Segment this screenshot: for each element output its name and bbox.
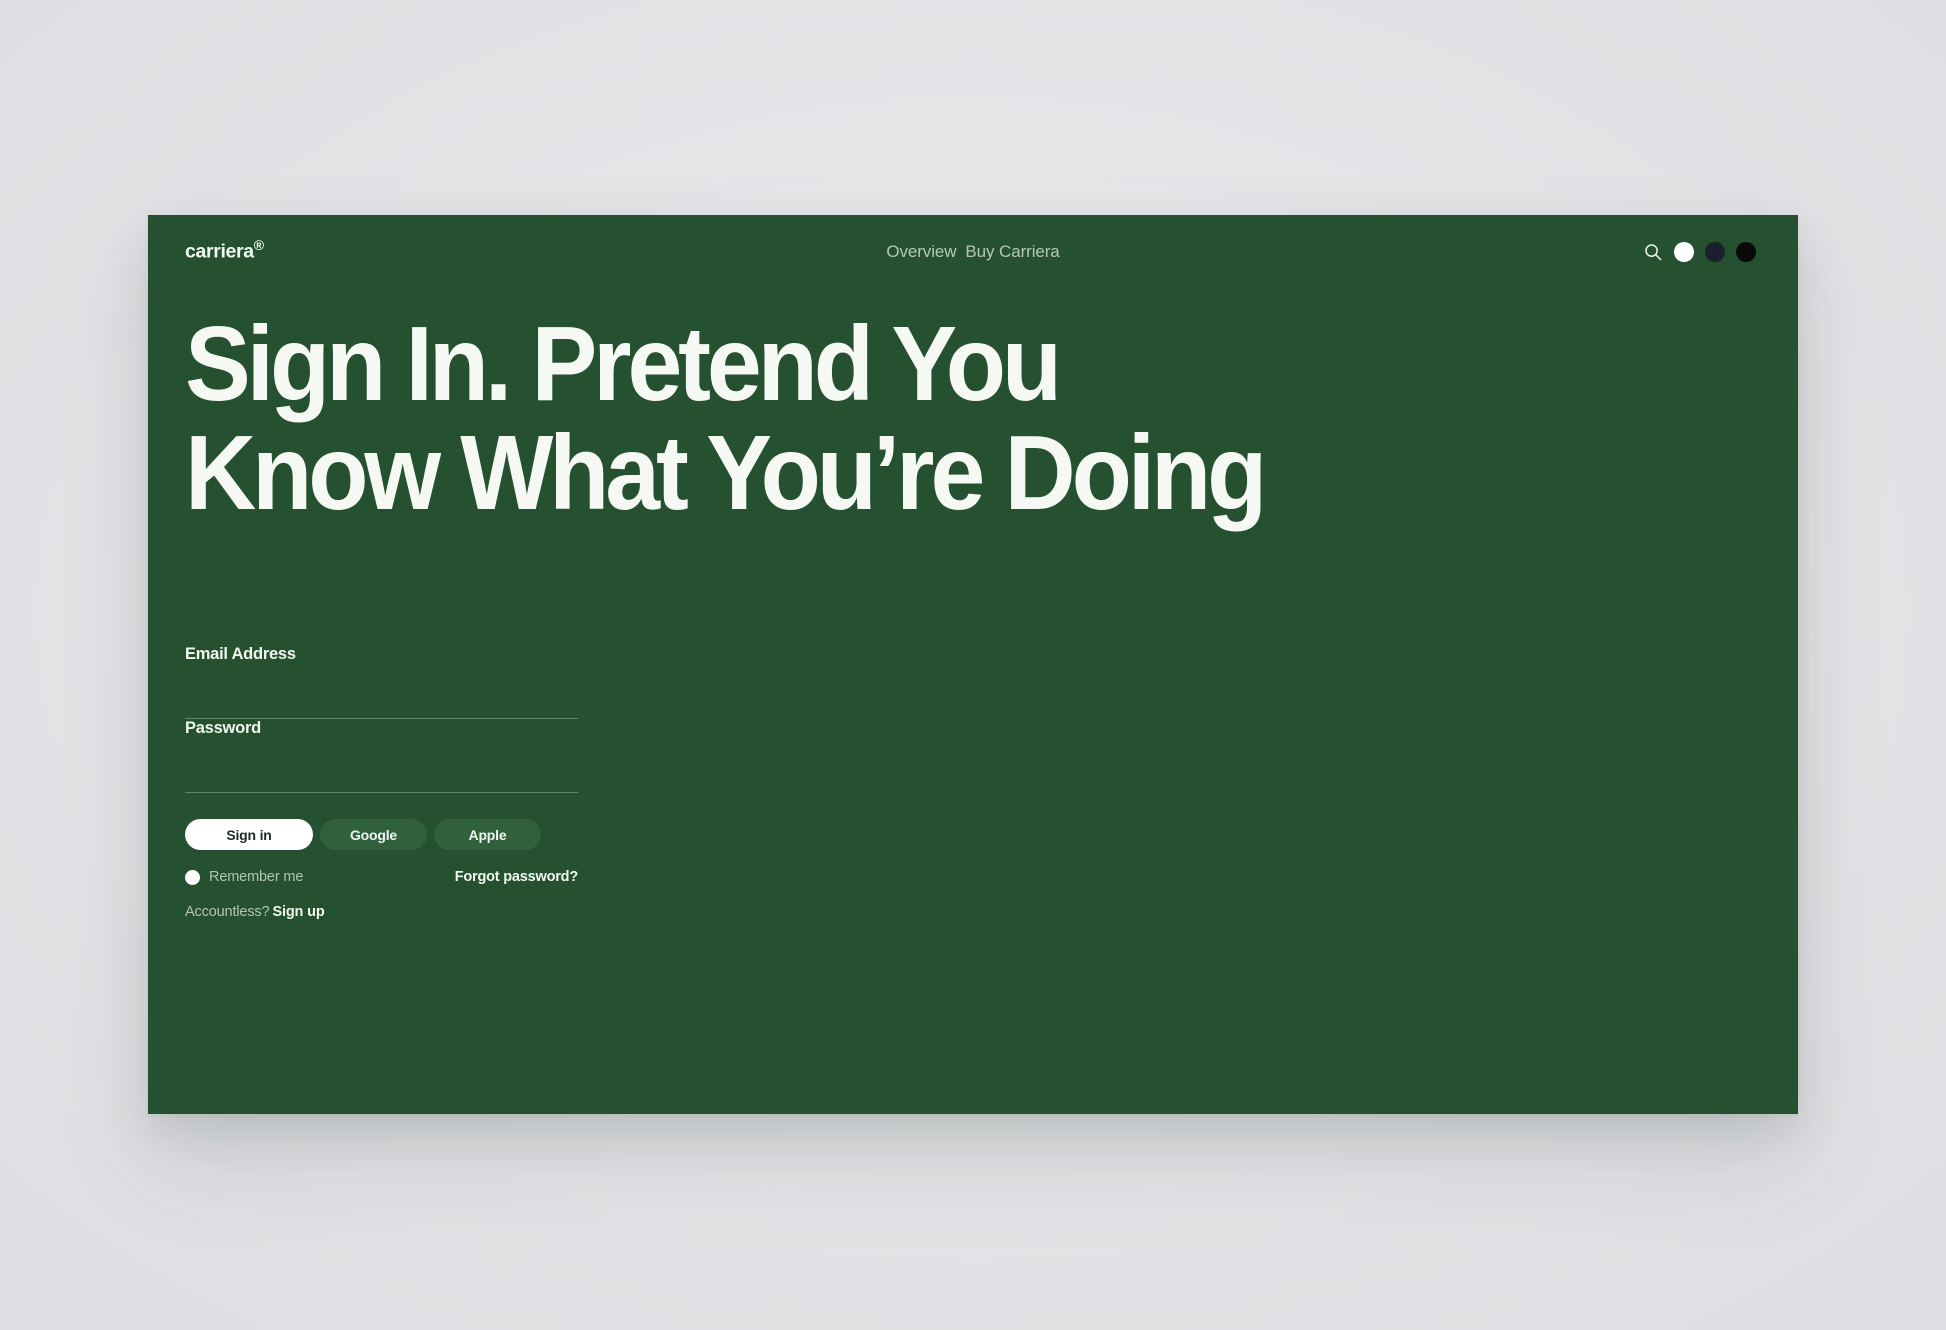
page-title: Sign In. Pretend You Know What You’re Do… (185, 310, 1394, 528)
apple-sign-in-button[interactable]: Apple (434, 819, 541, 850)
nav-item-buy-carriera[interactable]: Buy Carriera (965, 242, 1059, 262)
sign-up-link[interactable]: Sign up (272, 904, 324, 920)
headline-line-2: Know What You’re Doing (185, 419, 1394, 528)
password-field-group: Password (185, 719, 578, 793)
sign-in-form: Email Address Password Sign in Google Ap… (185, 645, 578, 920)
swatch-white-icon[interactable] (1674, 242, 1694, 262)
google-sign-in-button[interactable]: Google (320, 819, 427, 850)
password-label: Password (185, 719, 261, 738)
search-icon[interactable] (1643, 242, 1663, 262)
auth-button-row: Sign in Google Apple (185, 819, 578, 850)
top-navigation-bar: carriera® Overview Buy Carriera (148, 215, 1798, 289)
email-label: Email Address (185, 645, 296, 664)
signup-question: Accountless? (185, 904, 269, 920)
top-bar-actions (1643, 242, 1756, 262)
brand-name: carriera (185, 241, 254, 263)
swatch-navy-icon[interactable] (1705, 242, 1725, 262)
brand-logo[interactable]: carriera® (185, 241, 264, 264)
primary-nav: Overview Buy Carriera (886, 242, 1059, 262)
app-window: carriera® Overview Buy Carriera Sign In.… (148, 215, 1798, 1114)
remember-me-label: Remember me (209, 869, 303, 885)
headline-line-1: Sign In. Pretend You (185, 310, 1394, 419)
forgot-password-link[interactable]: Forgot password? (455, 869, 578, 885)
registered-trademark-icon: ® (254, 237, 264, 253)
remember-me-checkbox-icon[interactable] (185, 870, 200, 885)
sign-in-button[interactable]: Sign in (185, 819, 313, 850)
nav-item-overview[interactable]: Overview (886, 242, 956, 262)
remember-me-toggle[interactable]: Remember me (185, 869, 303, 885)
email-input[interactable] (185, 692, 578, 711)
signup-prompt: Accountless?Sign up (185, 904, 578, 920)
swatch-black-icon[interactable] (1736, 242, 1756, 262)
hero-section: Sign In. Pretend You Know What You’re Do… (185, 310, 1485, 528)
form-options-row: Remember me Forgot password? (185, 868, 578, 886)
password-input[interactable] (185, 766, 578, 785)
email-field-group: Email Address (185, 645, 578, 719)
